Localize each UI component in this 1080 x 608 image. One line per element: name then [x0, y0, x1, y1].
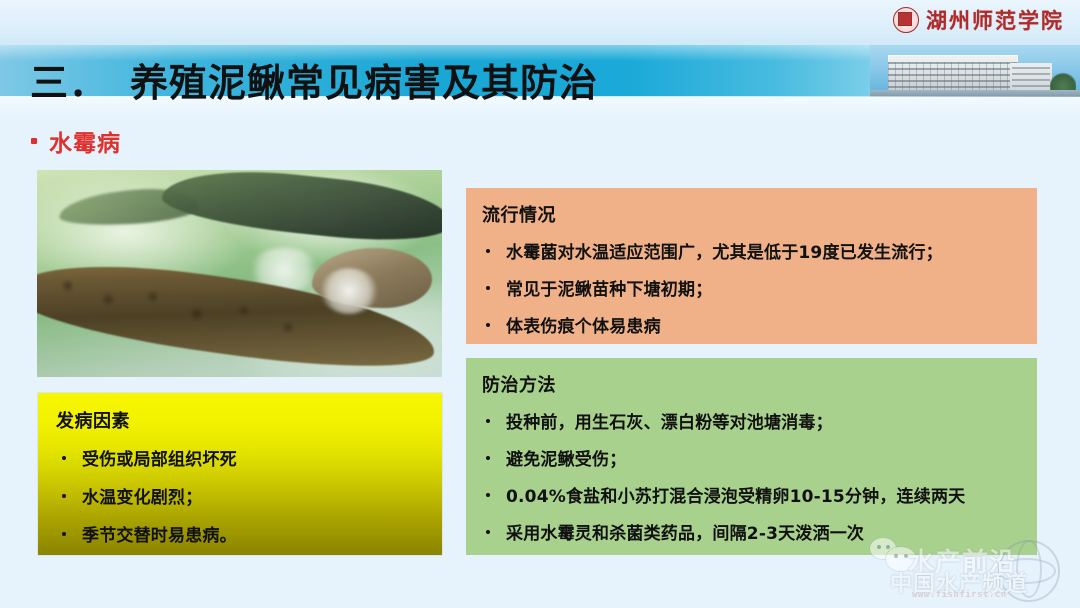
prevention-list: 投种前，用生石灰、漂白粉等对池塘消毒； 避免泥鳅受伤； 0.04%食盐和小苏打混… [482, 408, 1021, 544]
page-title: 三．养殖泥鳅常见病害及其防治 [30, 52, 598, 107]
page-title-text: 养殖泥鳅常见病害及其防治 [130, 61, 598, 105]
list-item: 季节交替时易患病。 [56, 521, 424, 546]
list-item-text: 避免泥鳅受伤； [506, 445, 626, 470]
bullet-icon [486, 419, 490, 423]
page-title-number: 三． [30, 61, 108, 105]
prevention-title: 防治方法 [482, 371, 1021, 397]
list-item-text: 季节交替时易患病。 [82, 521, 237, 546]
university-seal-icon [893, 7, 919, 33]
bullet-icon [486, 249, 490, 253]
photo-overlay [37, 170, 442, 377]
watermark-channel: 中国水产频道 [890, 566, 1028, 598]
cause-factors-title: 发病因素 [56, 407, 424, 433]
list-item-text: 水霉菌对水温适应范围广，尤其是低于19度已发生流行； [506, 238, 943, 263]
campus-building-photo [870, 45, 1080, 97]
list-item-text: 采用水霉灵和杀菌类药品，间隔2-3天泼洒一次 [506, 519, 864, 544]
epidemiology-list: 水霉菌对水温适应范围广，尤其是低于19度已发生流行； 常见于泥鳅苗种下塘初期； … [482, 238, 1021, 337]
bullet-dot-icon [31, 138, 37, 144]
university-logo: 湖州师范学院 [893, 6, 1064, 34]
subheading-label: 水霉病 [49, 124, 121, 158]
bullet-icon [486, 493, 490, 497]
list-item: 水温变化剧烈； [56, 483, 424, 508]
list-item: 常见于泥鳅苗种下塘初期； [482, 275, 1021, 300]
list-item-text: 体表伤痕个体易患病 [506, 312, 661, 337]
presentation-slide: 湖州师范学院 三．养殖泥鳅常见病害及其防治 水霉病 发病因素 受伤或局部组织坏死… [0, 0, 1080, 608]
campus-main-building [888, 55, 1018, 95]
bullet-icon [62, 456, 66, 460]
list-item-text: 水温变化剧烈； [82, 483, 202, 508]
list-item: 受伤或局部组织坏死 [56, 445, 424, 470]
list-item-text: 受伤或局部组织坏死 [82, 445, 237, 470]
watermark-url: www.fishfirst.cn [912, 590, 1007, 600]
bullet-icon [486, 456, 490, 460]
bullet-icon [62, 532, 66, 536]
bullet-icon [486, 323, 490, 327]
list-item: 体表伤痕个体易患病 [482, 312, 1021, 337]
cause-factors-list: 受伤或局部组织坏死 水温变化剧烈； 季节交替时易患病。 [56, 445, 424, 546]
bullet-icon [62, 494, 66, 498]
subheading: 水霉病 [31, 124, 121, 158]
list-item: 0.04%食盐和小苏打混合浸泡受精卵10-15分钟，连续两天 [482, 482, 1021, 507]
bullet-icon [486, 530, 490, 534]
list-item: 避免泥鳅受伤； [482, 445, 1021, 470]
list-item: 采用水霉灵和杀菌类药品，间隔2-3天泼洒一次 [482, 519, 1021, 544]
prevention-box: 防治方法 投种前，用生石灰、漂白粉等对池塘消毒； 避免泥鳅受伤； 0.04%食盐… [466, 358, 1037, 555]
cause-factors-box: 发病因素 受伤或局部组织坏死 水温变化剧烈； 季节交替时易患病。 [38, 393, 442, 555]
list-item-text: 常见于泥鳅苗种下塘初期； [506, 275, 712, 300]
list-item-text: 0.04%食盐和小苏打混合浸泡受精卵10-15分钟，连续两天 [506, 482, 965, 507]
list-item: 水霉菌对水温适应范围广，尤其是低于19度已发生流行； [482, 238, 1021, 263]
disease-photo [37, 170, 442, 377]
list-item-text: 投种前，用生石灰、漂白粉等对池塘消毒； [506, 408, 833, 433]
list-item: 投种前，用生石灰、漂白粉等对池塘消毒； [482, 408, 1021, 433]
university-logo-text: 湖州师范学院 [926, 5, 1064, 35]
epidemiology-box: 流行情况 水霉菌对水温适应范围广，尤其是低于19度已发生流行； 常见于泥鳅苗种下… [466, 188, 1037, 344]
bullet-icon [486, 286, 490, 290]
epidemiology-title: 流行情况 [482, 201, 1021, 227]
